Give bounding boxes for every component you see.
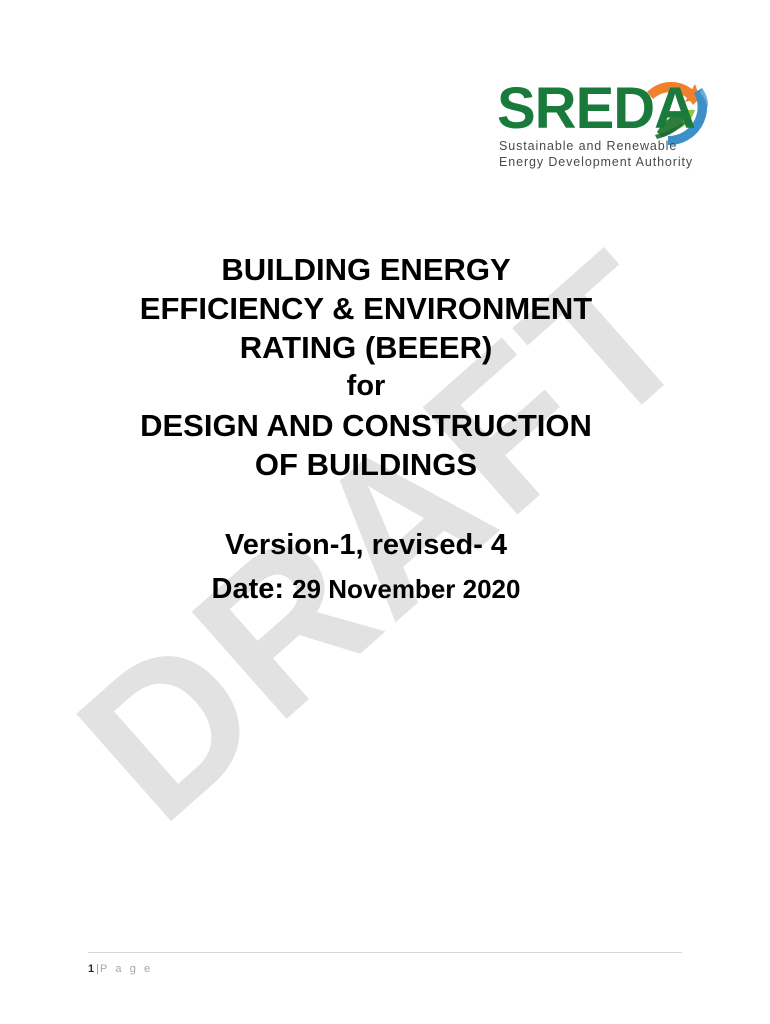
title-line-for: for: [70, 367, 662, 406]
logo-tagline-line2: Energy Development Authority: [499, 155, 693, 169]
title-spacer: [70, 484, 662, 523]
document-page: DRAFT SREDA Sustainable and Renewable En…: [0, 0, 770, 1024]
footer-divider: [88, 952, 682, 953]
title-block: BUILDING ENERGY EFFICIENCY & ENVIRONMENT…: [70, 250, 662, 611]
title-line-3: RATING (BEEER): [70, 328, 662, 367]
title-line-6: OF BUILDINGS: [70, 445, 662, 484]
date-label: Date:: [212, 573, 293, 605]
title-line-5: DESIGN AND CONSTRUCTION: [70, 406, 662, 445]
date-value: 29 November 2020: [292, 574, 520, 604]
page-footer: 1|P a g e: [88, 952, 682, 976]
title-line-1: BUILDING ENERGY: [70, 250, 662, 289]
logo-tagline-line1: Sustainable and Renewable: [499, 139, 677, 153]
date-text: Date: 29 November 2020: [70, 567, 662, 611]
footer-page-label: P a g e: [100, 963, 153, 975]
sreda-logo: SREDA Sustainable and Renewable Energy D…: [497, 62, 719, 174]
sreda-logo-icon: SREDA Sustainable and Renewable Energy D…: [497, 62, 719, 174]
sreda-wordmark: SREDA: [497, 76, 695, 141]
version-text: Version-1, revised- 4: [70, 523, 662, 567]
footer-page-indicator: 1|P a g e: [88, 962, 682, 976]
title-line-2: EFFICIENCY & ENVIRONMENT: [70, 289, 662, 328]
